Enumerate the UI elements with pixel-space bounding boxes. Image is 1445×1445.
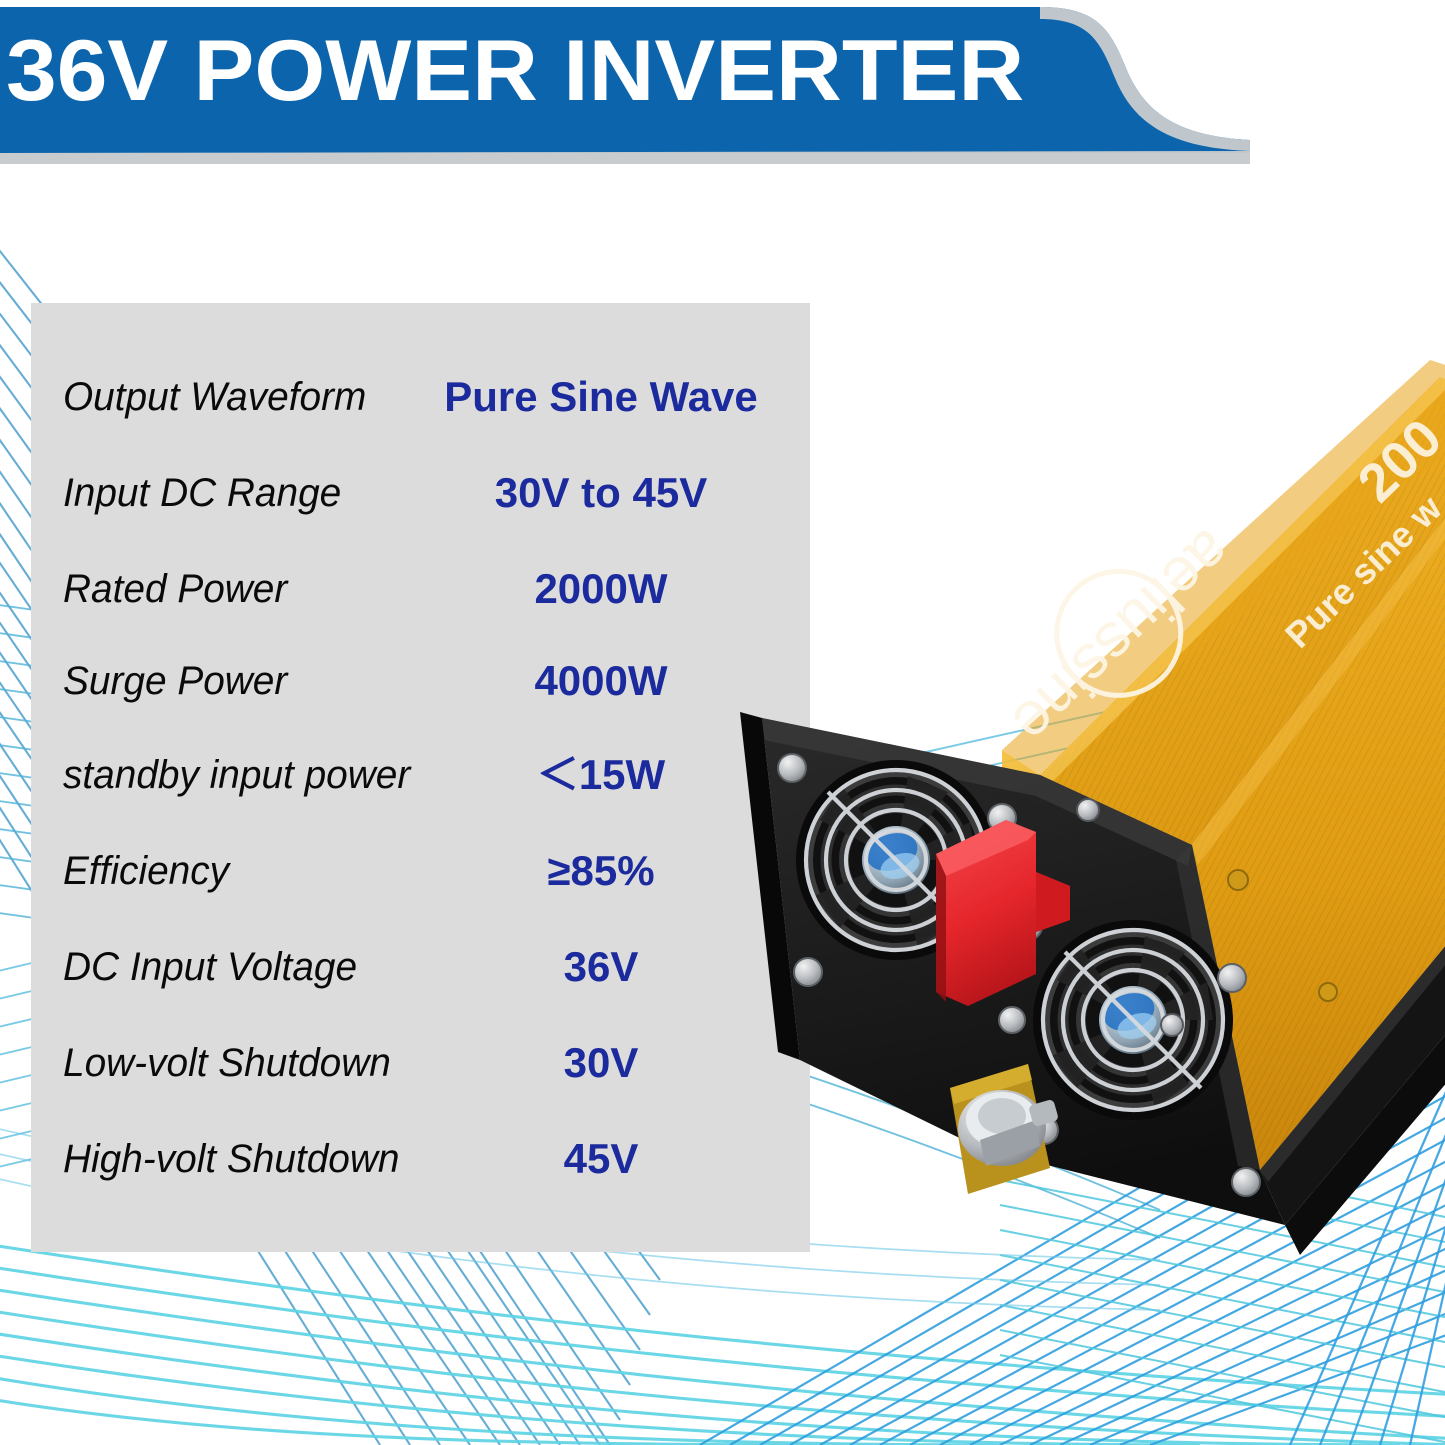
page-title: 36V POWER INVERTER [6, 22, 1024, 121]
spec-label: Rated Power [63, 563, 287, 615]
table-row: Efficiency ≥85% [31, 845, 810, 937]
spec-value: ＜15W [436, 749, 766, 801]
table-row: standby input power ＜15W [31, 749, 810, 841]
spec-value: 4000W [436, 655, 766, 707]
spec-value: 30V [436, 1037, 766, 1089]
table-row: DC Input Voltage 36V [31, 941, 810, 1033]
header-banner: 36V POWER INVERTER [0, 0, 1250, 180]
table-row: Low-volt Shutdown 30V [31, 1037, 810, 1129]
table-row: Output Waveform Pure Sine Wave [31, 371, 810, 463]
table-row: High-volt Shutdown 45V [31, 1133, 810, 1225]
spec-label: Efficiency [63, 845, 229, 897]
table-row: Input DC Range 30V to 45V [31, 467, 810, 559]
spec-value: ≥85% [436, 845, 766, 897]
spec-label: Surge Power [63, 655, 287, 707]
spec-label: DC Input Voltage [63, 941, 357, 993]
spec-value: 2000W [436, 563, 766, 615]
spec-table: Output Waveform Pure Sine Wave Input DC … [31, 303, 810, 1252]
spec-label: High-volt Shutdown [63, 1133, 399, 1185]
spec-value: Pure Sine Wave [436, 371, 766, 423]
spec-label: Low-volt Shutdown [63, 1037, 391, 1089]
spec-label: Input DC Range [63, 467, 341, 519]
spec-label: standby input power [63, 749, 410, 801]
infographic-root: 36V POWER INVERTER Output Waveform Pure … [0, 0, 1445, 1445]
table-row: Surge Power 4000W [31, 655, 810, 747]
spec-value: 36V [436, 941, 766, 993]
spec-value: 45V [436, 1133, 766, 1185]
product-image-inverter: aeliussine 200 Pure sine w [740, 320, 1445, 1330]
spec-value: 30V to 45V [436, 467, 766, 519]
table-row: Rated Power 2000W [31, 563, 810, 655]
spec-label: Output Waveform [63, 371, 366, 423]
